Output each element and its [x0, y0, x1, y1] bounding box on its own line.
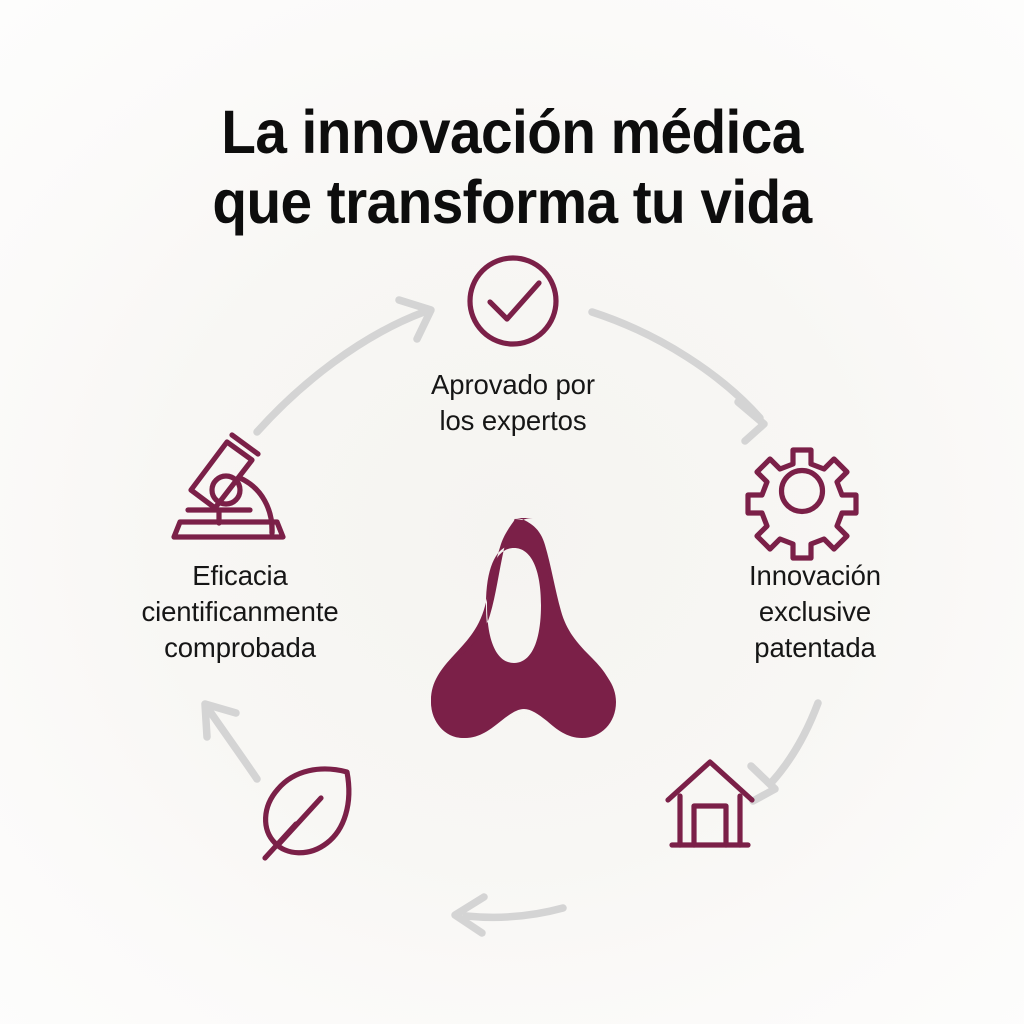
saddle-silhouette-icon: [431, 518, 616, 738]
node-label-innovation-line-3: patentada: [655, 630, 975, 666]
microscope-icon: [174, 435, 283, 537]
node-label-approved: Aprovado por los expertos: [313, 367, 713, 439]
house-icon: [668, 762, 752, 845]
node-label-innovation-line-1: Innovación: [655, 558, 975, 594]
arrow-house-to-leaf: [455, 897, 563, 933]
node-label-innovation: Innovación exclusive patentada: [655, 558, 975, 666]
node-label-efficacy-line-1: Eficacia: [50, 558, 430, 594]
check-circle-icon: [470, 258, 556, 344]
arrow-gear-to-house: [751, 703, 818, 801]
leaf-icon: [265, 769, 349, 858]
infographic-canvas: La innovación médica que transforma tu v…: [0, 0, 1024, 1024]
node-label-approved-line-1: Aprovado por: [313, 367, 713, 403]
node-label-efficacy-line-3: comprobada: [50, 630, 430, 666]
node-label-approved-line-2: los expertos: [313, 403, 713, 439]
arrow-leaf-to-microscope: [205, 704, 257, 779]
cycle-diagram: [0, 0, 1024, 1024]
node-label-efficacy: Eficacia cientificanmente comprobada: [50, 558, 430, 666]
gear-icon: [748, 450, 856, 558]
node-label-innovation-line-2: exclusive: [655, 594, 975, 630]
node-label-efficacy-line-2: cientificanmente: [50, 594, 430, 630]
